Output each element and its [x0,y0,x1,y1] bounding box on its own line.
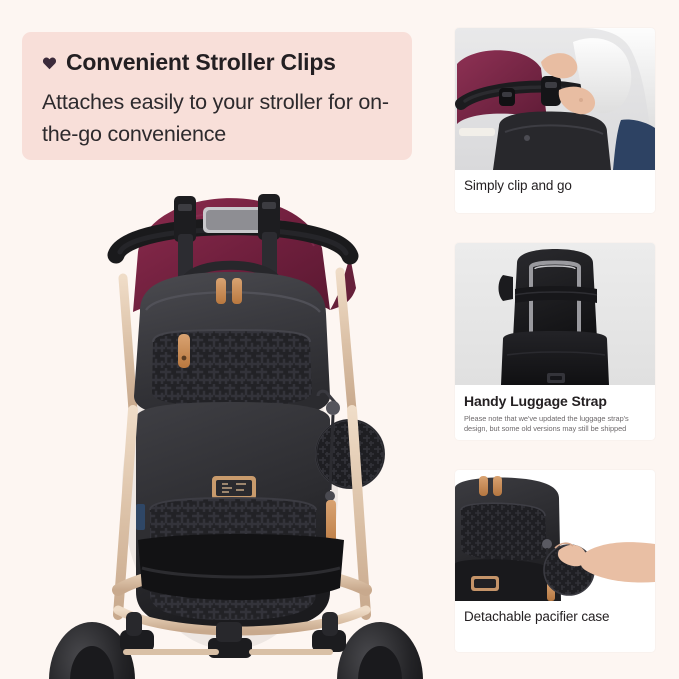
callout-body: Attaches easily to your stroller for on-… [42,87,390,150]
feature-callout: Convenient Stroller Clips Attaches easil… [22,32,412,160]
callout-title: Convenient Stroller Clips [66,49,336,76]
panel-photo-simply-clip-and-go [455,28,655,170]
panel-card-handy-luggage-strap[interactable]: Handy Luggage Strap Please note that we'… [455,243,655,440]
panel-photo-handy-luggage-strap [455,243,655,385]
callout-title-row: Convenient Stroller Clips [42,49,390,76]
panel-card-detachable-pacifier-case[interactable]: Detachable pacifier case [455,470,655,652]
right-column: Simply clip and go [455,0,655,679]
hero-product-image [0,160,452,679]
heart-icon [42,56,57,71]
panel-caption-simply-clip-and-go: Simply clip and go [455,170,655,194]
panel-caption-detachable-pacifier-case: Detachable pacifier case [455,601,655,625]
panel-card-simply-clip-and-go[interactable]: Simply clip and go [455,28,655,213]
storage-basket [138,534,344,600]
left-column: Convenient Stroller Clips Attaches easil… [0,0,452,679]
panel-photo-detachable-pacifier-case [455,470,655,601]
panel-note-handy-luggage-strap: Please note that we've updated the lugga… [455,410,655,435]
panel-caption-handy-luggage-strap: Handy Luggage Strap [455,385,655,410]
